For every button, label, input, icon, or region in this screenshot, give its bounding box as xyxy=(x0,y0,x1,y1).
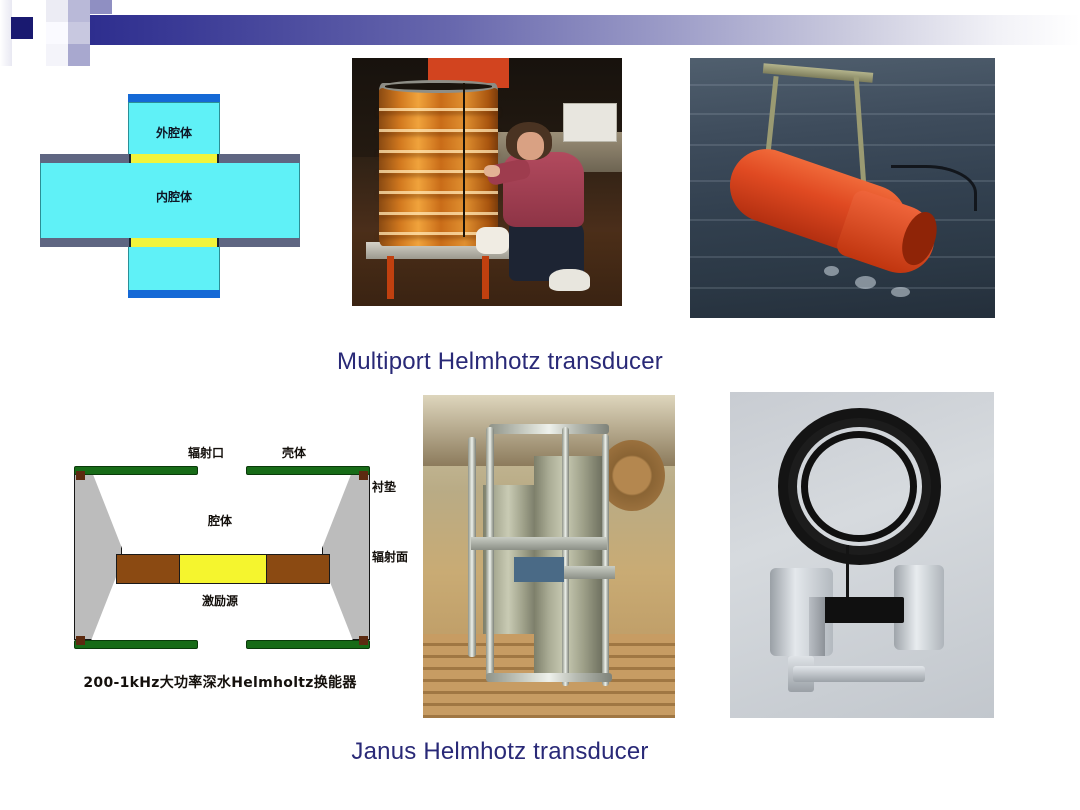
banner-square-mid-1 xyxy=(68,0,90,22)
label-inner-cavity: 内腔体 xyxy=(128,188,220,205)
excitation-block-right xyxy=(266,554,330,584)
label-excitation-source: 激励源 xyxy=(202,592,238,609)
end-cap-top xyxy=(128,94,220,102)
banner-square-mid-3 xyxy=(46,44,68,66)
coil-ring xyxy=(379,191,498,194)
decorative-banner xyxy=(0,0,1080,62)
label-outer-cavity: 外腔体 xyxy=(128,124,220,141)
sea-wave xyxy=(690,113,995,115)
sea-wave xyxy=(690,287,995,289)
photo-workshop-orange-transducer xyxy=(352,58,622,306)
cylinder-lead-wire xyxy=(463,83,465,237)
liner-tab-top-left xyxy=(76,471,85,480)
water-splash xyxy=(891,287,909,297)
driver-element-bottom xyxy=(129,238,219,247)
technician-hand xyxy=(484,165,500,177)
radiating-plate-bottom-right xyxy=(246,640,370,649)
left-shell-wall xyxy=(74,470,122,640)
banner-gradient-bar xyxy=(62,15,1080,45)
frame-cross-brace-lower xyxy=(557,566,615,579)
label-liner: 衬垫 xyxy=(372,478,396,495)
label-shell: 壳体 xyxy=(282,444,306,461)
liner-tab-bottom-left xyxy=(76,636,85,645)
banner-square-mid-4 xyxy=(68,44,90,66)
workshop-cart-leg-right xyxy=(482,256,489,298)
caption-janus-helmholtz: Janus Helmhotz transducer xyxy=(0,738,1000,766)
cylinder-open-top xyxy=(382,80,495,92)
frame-top-rail xyxy=(489,424,610,434)
banner-square-dark xyxy=(11,17,33,39)
frame-post-right xyxy=(602,434,610,686)
frame-post-left xyxy=(486,427,494,679)
caption-multiport-helmholtz: Multiport Helmhotz transducer xyxy=(0,348,1000,376)
frame-cross-brace-upper xyxy=(471,537,607,550)
photo-cable-coil-and-metal-parts xyxy=(730,392,994,718)
banner-square-pale-1 xyxy=(46,0,68,22)
blue-mounting-bracket xyxy=(514,557,564,583)
radiating-plate-top-left xyxy=(74,466,198,475)
technician-shoe xyxy=(549,269,590,291)
coil-ring xyxy=(379,108,498,111)
label-radiating-port: 辐射口 xyxy=(188,444,224,461)
coil-ring xyxy=(379,212,498,215)
technician-face xyxy=(517,132,544,159)
frame-bottom-rail xyxy=(486,673,612,683)
excitation-source-core xyxy=(179,554,267,584)
sea-wave xyxy=(690,84,995,86)
coil-ring xyxy=(379,170,498,173)
radiating-plate-bottom-left xyxy=(74,640,198,649)
banner-square-mid-2 xyxy=(68,22,90,44)
liner-tab-top-right xyxy=(359,471,368,480)
workshop-cart-leg-left xyxy=(387,256,394,298)
photo-sea-deployment-red-transducer xyxy=(690,58,995,318)
sea-wave xyxy=(690,256,995,258)
orange-coil-cylinder xyxy=(379,83,498,247)
deepwater-helmholtz-diagram: 辐射口 壳体 衬垫 腔体 辐射面 激励源 200-1kHz大功率深水Helmho… xyxy=(60,440,420,690)
metal-rod xyxy=(793,666,925,682)
coil-ring xyxy=(379,129,498,132)
driver-element-top xyxy=(129,154,219,163)
label-cavity: 腔体 xyxy=(208,512,232,529)
cable-tail xyxy=(846,545,849,597)
banner-square-light xyxy=(90,0,112,14)
technician-glove xyxy=(476,227,508,254)
cable-coil-inner xyxy=(801,431,917,542)
sea-wave xyxy=(690,144,995,146)
multiport-helmholtz-diagram: 外腔体 内腔体 xyxy=(40,88,300,308)
liner-tab-bottom-right xyxy=(359,636,368,645)
photo-frame-mounted-cylinders xyxy=(423,395,675,718)
diagram-janus-caption: 200-1kHz大功率深水Helmholtz换能器 xyxy=(60,672,380,692)
cable-spool xyxy=(599,440,665,511)
banner-square-pale-2 xyxy=(46,22,68,44)
label-radiating-surface: 辐射面 xyxy=(372,548,408,565)
workshop-white-box xyxy=(563,103,617,143)
coil-ring xyxy=(379,150,498,153)
end-cap-bottom xyxy=(128,290,220,298)
excitation-block-left xyxy=(116,554,180,584)
metal-blade-mount xyxy=(809,597,825,656)
radiating-plate-top-right xyxy=(246,466,370,475)
